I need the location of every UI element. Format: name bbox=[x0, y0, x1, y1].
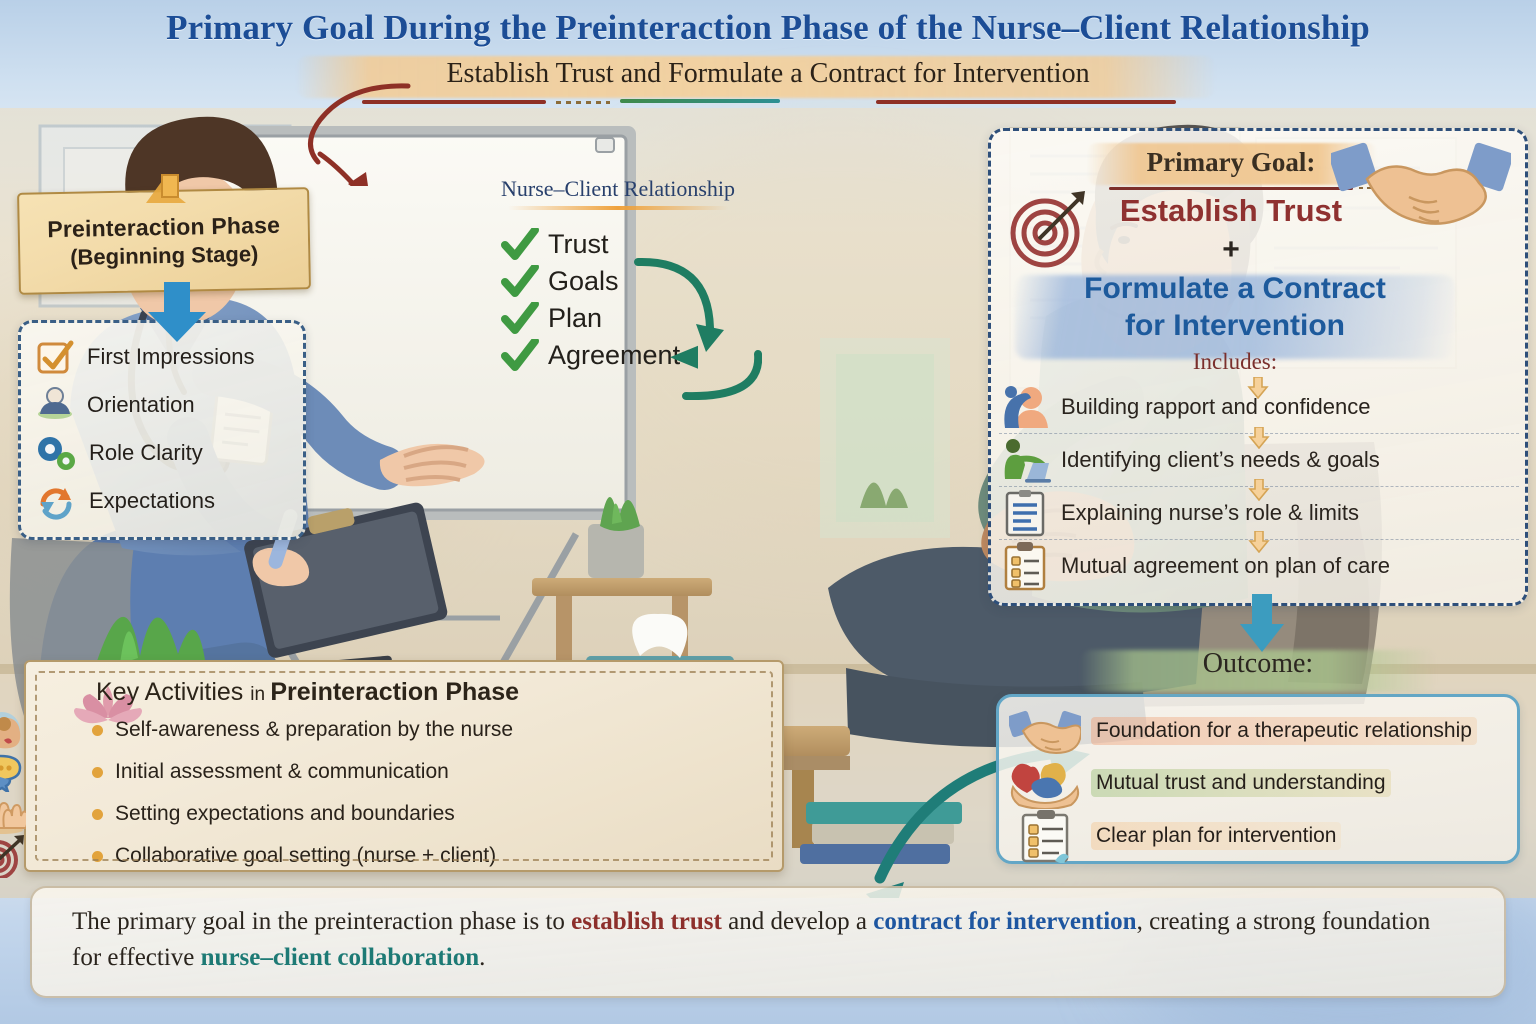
key-activity-bullet bbox=[92, 767, 103, 778]
key-activity-bullet bbox=[92, 809, 103, 820]
green-check-icon bbox=[500, 265, 540, 299]
page-subtitle: Establish Trust and Formulate a Contract… bbox=[0, 58, 1536, 90]
list-item[interactable]: Orientation bbox=[35, 381, 293, 429]
green-check-icon bbox=[500, 339, 540, 373]
key-activity-label: Collaborative goal setting (nurse + clie… bbox=[115, 844, 496, 868]
subtitle-underline-red-right bbox=[876, 100, 1176, 104]
bookmark-icon bbox=[142, 173, 190, 207]
page-title: Primary Goal During the Preinteraction P… bbox=[0, 8, 1536, 48]
outcome-item[interactable]: Foundation for a therapeutic relationshi… bbox=[1009, 705, 1507, 757]
list-item-label: Orientation bbox=[87, 392, 195, 418]
summary-emphasis-collaboration: nurse–client collaboration bbox=[201, 944, 479, 971]
goal-blue-line-2: for Intervention bbox=[1125, 309, 1345, 342]
infographic-canvas: Plan Primary Goal During the Preinteract… bbox=[0, 0, 1536, 1024]
summary-emphasis-contract: contract for intervention bbox=[873, 908, 1136, 935]
down-arrow-teal-icon bbox=[1236, 594, 1288, 654]
goal-establish-trust: Establish Trust bbox=[1031, 193, 1431, 229]
key-activities-title: Key Activities in Preinteraction Phase bbox=[96, 678, 768, 707]
speech-bubbles-icon bbox=[0, 752, 26, 792]
goal-blue-line-1: Formulate a Contract bbox=[1084, 272, 1386, 305]
list-item[interactable]: Expectations bbox=[35, 477, 293, 525]
goal-formulate-contract: Formulate a Contract for Intervention bbox=[1011, 271, 1459, 345]
whiteboard-heading: Nurse–Client Relationship bbox=[468, 176, 768, 210]
list-item-label: First Impressions bbox=[87, 344, 254, 370]
list-item[interactable]: Role Clarity bbox=[35, 429, 293, 477]
list-item-label: Role Clarity bbox=[89, 440, 203, 466]
outcome-item-label: Foundation for a therapeutic relationshi… bbox=[1091, 717, 1477, 744]
subtitle-underline-dots bbox=[556, 101, 610, 104]
green-check-icon bbox=[500, 228, 540, 262]
down-arrow-gold-icon bbox=[1248, 479, 1270, 501]
outcome-item-label: Clear plan for intervention bbox=[1091, 822, 1341, 849]
curved-green-arrow-icon bbox=[632, 250, 762, 400]
person-badge-icon bbox=[35, 386, 75, 424]
subtitle-underline-red-left bbox=[362, 100, 546, 104]
key-activity-label: Self-awareness & preparation by the nurs… bbox=[115, 718, 513, 742]
includes-item-label: Mutual agreement on plan of care bbox=[1061, 553, 1390, 579]
summary-text-4: . bbox=[479, 944, 485, 971]
includes-list: Building rapport and confidence Identify… bbox=[999, 381, 1519, 592]
summary-panel: The primary goal in the preinteraction p… bbox=[30, 886, 1506, 998]
key-activity-item[interactable]: Collaborative goal setting (nurse + clie… bbox=[92, 835, 768, 877]
green-check-icon bbox=[500, 302, 540, 336]
down-arrow-blue-icon bbox=[142, 282, 212, 344]
down-arrow-gold-icon bbox=[1248, 531, 1270, 553]
key-activity-label: Setting expectations and boundaries bbox=[115, 802, 455, 826]
key-activity-bullet bbox=[92, 851, 103, 862]
primary-goal-underline bbox=[1109, 187, 1353, 190]
person-support-icon bbox=[999, 384, 1051, 430]
down-arrow-gold-icon bbox=[1248, 427, 1270, 449]
title-block: Primary Goal During the Preinteraction P… bbox=[0, 8, 1536, 48]
subtitle-underline-green bbox=[620, 99, 780, 103]
handshake-icon bbox=[1009, 705, 1081, 757]
checklist-clipboard-icon bbox=[1009, 809, 1081, 863]
document-clipboard-icon bbox=[999, 489, 1051, 537]
outcome-card: Foundation for a therapeutic relationshi… bbox=[996, 694, 1520, 864]
checklist-clipboard-icon bbox=[999, 541, 1051, 591]
key-activities-panel: Key Activities in Preinteraction Phase S… bbox=[24, 660, 784, 872]
person-laptop-icon bbox=[999, 437, 1051, 483]
banner-line-2: (Beginning Stage) bbox=[70, 241, 259, 271]
summary-text-2: and develop a bbox=[722, 908, 873, 935]
includes-item-label: Building rapport and confidence bbox=[1061, 394, 1370, 420]
outcome-item[interactable]: Mutual trust and understanding bbox=[1009, 757, 1507, 809]
ka-title-part2: Preinteraction Phase bbox=[270, 678, 519, 706]
includes-item-label: Explaining nurse’s role & limits bbox=[1061, 500, 1359, 526]
banner-line-1: Preinteraction Phase bbox=[47, 211, 280, 242]
target-arrow-icon bbox=[0, 834, 26, 878]
includes-item-label: Identifying client’s needs & goals bbox=[1061, 447, 1380, 473]
outcome-item[interactable]: Clear plan for intervention bbox=[1009, 809, 1507, 863]
primary-goal-panel: Primary Goal: Establish Trust + Formulat… bbox=[988, 128, 1528, 606]
preinteraction-elements-card: First Impressions Orientation Role Clari… bbox=[18, 320, 306, 540]
key-activity-item[interactable]: Setting expectations and boundaries bbox=[92, 793, 768, 835]
ka-title-part1: Key Activities bbox=[96, 678, 250, 706]
includes-label: Includes: bbox=[1011, 349, 1459, 375]
two-hands-icon bbox=[0, 794, 26, 834]
checklist-check-icon bbox=[35, 339, 75, 375]
ka-title-small: in bbox=[250, 684, 270, 705]
refresh-cycle-icon bbox=[35, 482, 77, 520]
gears-icon bbox=[35, 434, 77, 472]
heart-in-hands-icon bbox=[1009, 757, 1081, 809]
head-reflection-icon bbox=[0, 710, 26, 750]
key-activity-item[interactable]: Self-awareness & preparation by the nurs… bbox=[92, 709, 768, 751]
key-activity-label: Initial assessment & communication bbox=[115, 760, 449, 784]
outcome-item-label: Mutual trust and understanding bbox=[1091, 769, 1391, 796]
key-activity-item[interactable]: Initial assessment & communication bbox=[92, 751, 768, 793]
goal-plus-sign: + bbox=[1031, 233, 1431, 267]
list-item-label: Expectations bbox=[89, 488, 215, 514]
summary-text-1: The primary goal in the preinteraction p… bbox=[72, 908, 571, 935]
summary-emphasis-trust: establish trust bbox=[571, 908, 722, 935]
